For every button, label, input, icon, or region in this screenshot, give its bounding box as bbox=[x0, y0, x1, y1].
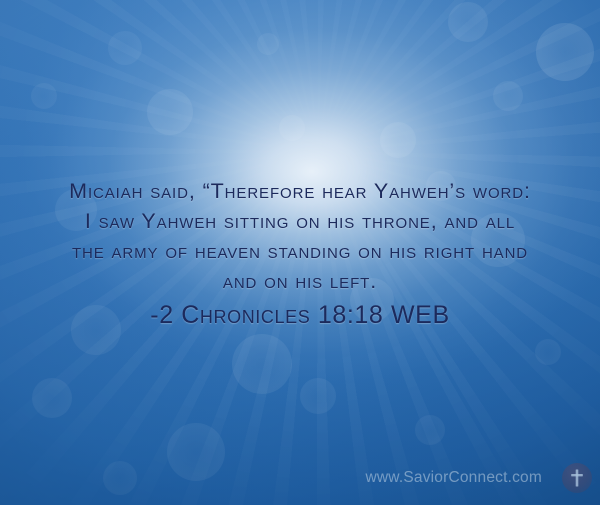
bokeh-circle bbox=[32, 378, 72, 418]
verse-line: and on his left. bbox=[0, 266, 600, 296]
bokeh-circle bbox=[31, 83, 57, 109]
bokeh-circle bbox=[147, 89, 193, 135]
bokeh-circle bbox=[167, 423, 225, 481]
saviorconnect-logo-badge bbox=[562, 463, 592, 493]
verse-image-canvas: Micaiah said, “Therefore hear Yahweh’s w… bbox=[0, 0, 600, 505]
bokeh-circle bbox=[448, 2, 488, 42]
cross-icon bbox=[569, 468, 585, 488]
bokeh-circle bbox=[257, 33, 279, 55]
bokeh-circle bbox=[535, 339, 561, 365]
verse-text-block: Micaiah said, “Therefore hear Yahweh’s w… bbox=[0, 176, 600, 332]
bokeh-circle bbox=[380, 122, 416, 158]
bokeh-circle bbox=[300, 378, 336, 414]
verse-citation: -2 Chronicles 18:18 WEB bbox=[0, 298, 600, 332]
verse-line: Micaiah said, “Therefore hear Yahweh’s w… bbox=[0, 176, 600, 206]
bokeh-circle bbox=[493, 81, 523, 111]
bokeh-circle bbox=[415, 415, 445, 445]
verse-line: I saw Yahweh sitting on his throne, and … bbox=[0, 206, 600, 236]
bokeh-circle bbox=[232, 334, 292, 394]
bokeh-circle bbox=[536, 23, 594, 81]
bokeh-circle bbox=[103, 461, 137, 495]
bokeh-circle bbox=[108, 31, 142, 65]
bokeh-circle bbox=[279, 115, 305, 141]
verse-line: the army of heaven standing on his right… bbox=[0, 236, 600, 266]
site-watermark: www.SaviorConnect.com bbox=[366, 469, 543, 487]
